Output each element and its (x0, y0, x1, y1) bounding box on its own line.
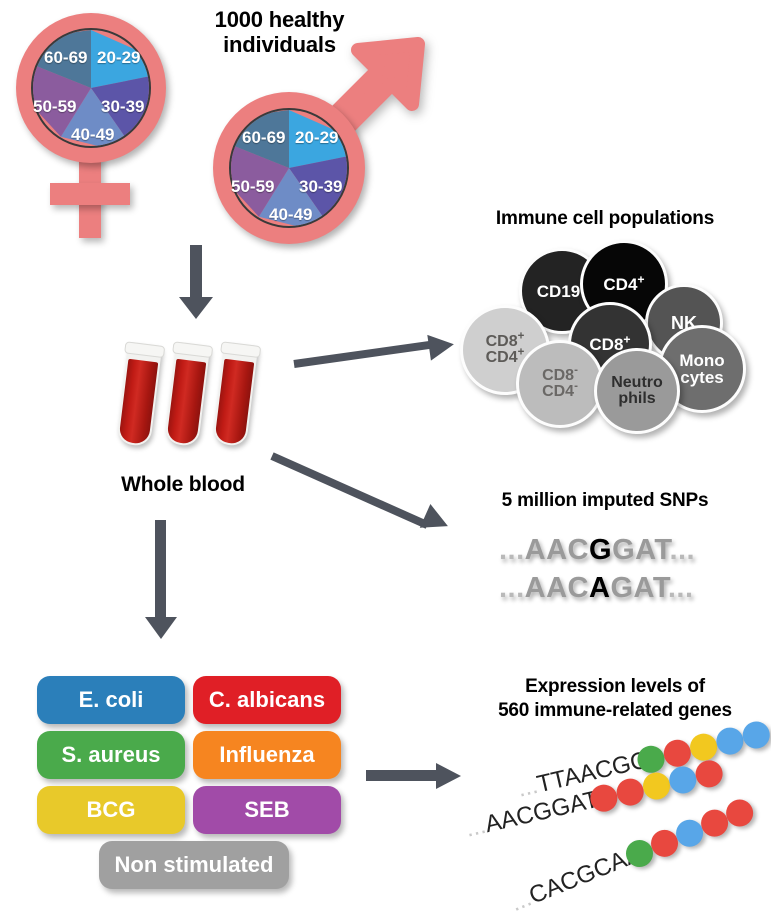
cell-cd8-sup: + (623, 332, 630, 346)
immune-cell-title: Immune cell populations (445, 208, 765, 229)
cell-neutrophils-line2: phils (618, 390, 655, 407)
male-pie-label-60-69: 60-69 (242, 128, 285, 148)
female-pie-label-40-49: 40-49 (71, 125, 114, 145)
strand-1-bead-5 (740, 719, 771, 751)
snp1-post: GAT (612, 534, 669, 566)
female-pie-label-60-69: 60-69 (44, 48, 87, 68)
snp-sequence-2: ...AACAGAT... (499, 572, 694, 605)
cell-monocytes-line2: cytes (680, 368, 723, 387)
snp1-prefix: ... (499, 534, 525, 566)
snp2-suffix: ... (668, 572, 694, 604)
cell-cd4-sup: + (637, 272, 644, 286)
snp1-suffix: ... (669, 534, 695, 566)
blood-tubes-group (110, 335, 280, 450)
male-pie-label-30-39: 30-39 (299, 177, 342, 197)
cell-cd8neg-cd4neg-line2: CD4 (542, 383, 574, 400)
female-pie-label-30-39: 30-39 (101, 97, 144, 117)
expression-title-line1: Expression levels of (465, 676, 765, 697)
stimulation-s-aureus[interactable]: S. aureus (37, 731, 185, 779)
cell-cd8pos-cd4pos-line2: CD4 (486, 349, 518, 366)
cell-cd19-label: CD19 (537, 282, 580, 301)
blood-tube-2 (164, 342, 210, 447)
stimulation-e-coli[interactable]: E. coli (37, 676, 185, 724)
female-symbol: 60-69 20-29 30-39 40-49 50-59 (8, 8, 198, 238)
stimulation-influenza[interactable]: Influenza (193, 731, 341, 779)
snp2-pre: AAC (525, 572, 589, 604)
stimulation-non-stimulated[interactable]: Non stimulated (99, 841, 289, 889)
male-pie-label-20-29: 20-29 (295, 128, 338, 148)
snp2-variant: A (589, 572, 610, 604)
strand-1-bead-4 (714, 725, 746, 757)
stimulation-panel: E. coli C. albicans S. aureus Influenza … (37, 676, 337, 896)
stimulation-c-albicans[interactable]: C. albicans (193, 676, 341, 724)
strand-2-bead-4 (667, 764, 699, 796)
snp1-variant: G (589, 534, 612, 566)
snp1-pre: AAC (525, 534, 589, 566)
female-pie-label-50-59: 50-59 (33, 97, 76, 117)
blood-tube-3 (212, 342, 258, 447)
snp2-post: GAT (610, 572, 667, 604)
snp-sequence-1: ...AACGGAT... (499, 534, 695, 567)
cell-cd8neg-cd4neg-line1: CD8 (542, 367, 574, 384)
strand-2-bead-5 (693, 758, 725, 790)
whole-blood-label: Whole blood (88, 473, 278, 497)
cell-neutrophils: Neutro phils (594, 348, 680, 434)
immune-cell-cluster: CD19+ CD4+ NK CD8+ CD4+ CD8+ Mono cytes … (460, 240, 760, 430)
cell-cd8-label: CD8 (589, 335, 623, 354)
blood-tube-1 (116, 342, 162, 447)
cell-cd8neg-cd4neg: CD8- CD4- (516, 340, 604, 428)
male-pie-label-50-59: 50-59 (231, 177, 274, 197)
snp-title: 5 million imputed SNPs (455, 490, 755, 511)
snp2-prefix: ... (499, 572, 525, 604)
cell-neutrophils-line1: Neutro (611, 374, 663, 391)
strand-2-bead-2 (614, 776, 646, 808)
male-pie-label-40-49: 40-49 (269, 205, 312, 225)
cell-cd4-label: CD4 (603, 275, 637, 294)
strand-2-bead-3 (640, 770, 672, 802)
expression-title-line2: 560 immune-related genes (455, 700, 771, 721)
stimulation-bcg[interactable]: BCG (37, 786, 185, 834)
figure-canvas: 1000 healthy individuals 60-69 20-29 30-… (0, 0, 771, 922)
male-symbol: 60-69 20-29 30-39 40-49 50-59 (205, 80, 430, 260)
female-symbol-crossbar (50, 183, 130, 205)
female-pie-label-20-29: 20-29 (97, 48, 140, 68)
stimulation-seb[interactable]: SEB (193, 786, 341, 834)
cell-cd8pos-cd4pos-line1: CD8 (486, 333, 518, 350)
